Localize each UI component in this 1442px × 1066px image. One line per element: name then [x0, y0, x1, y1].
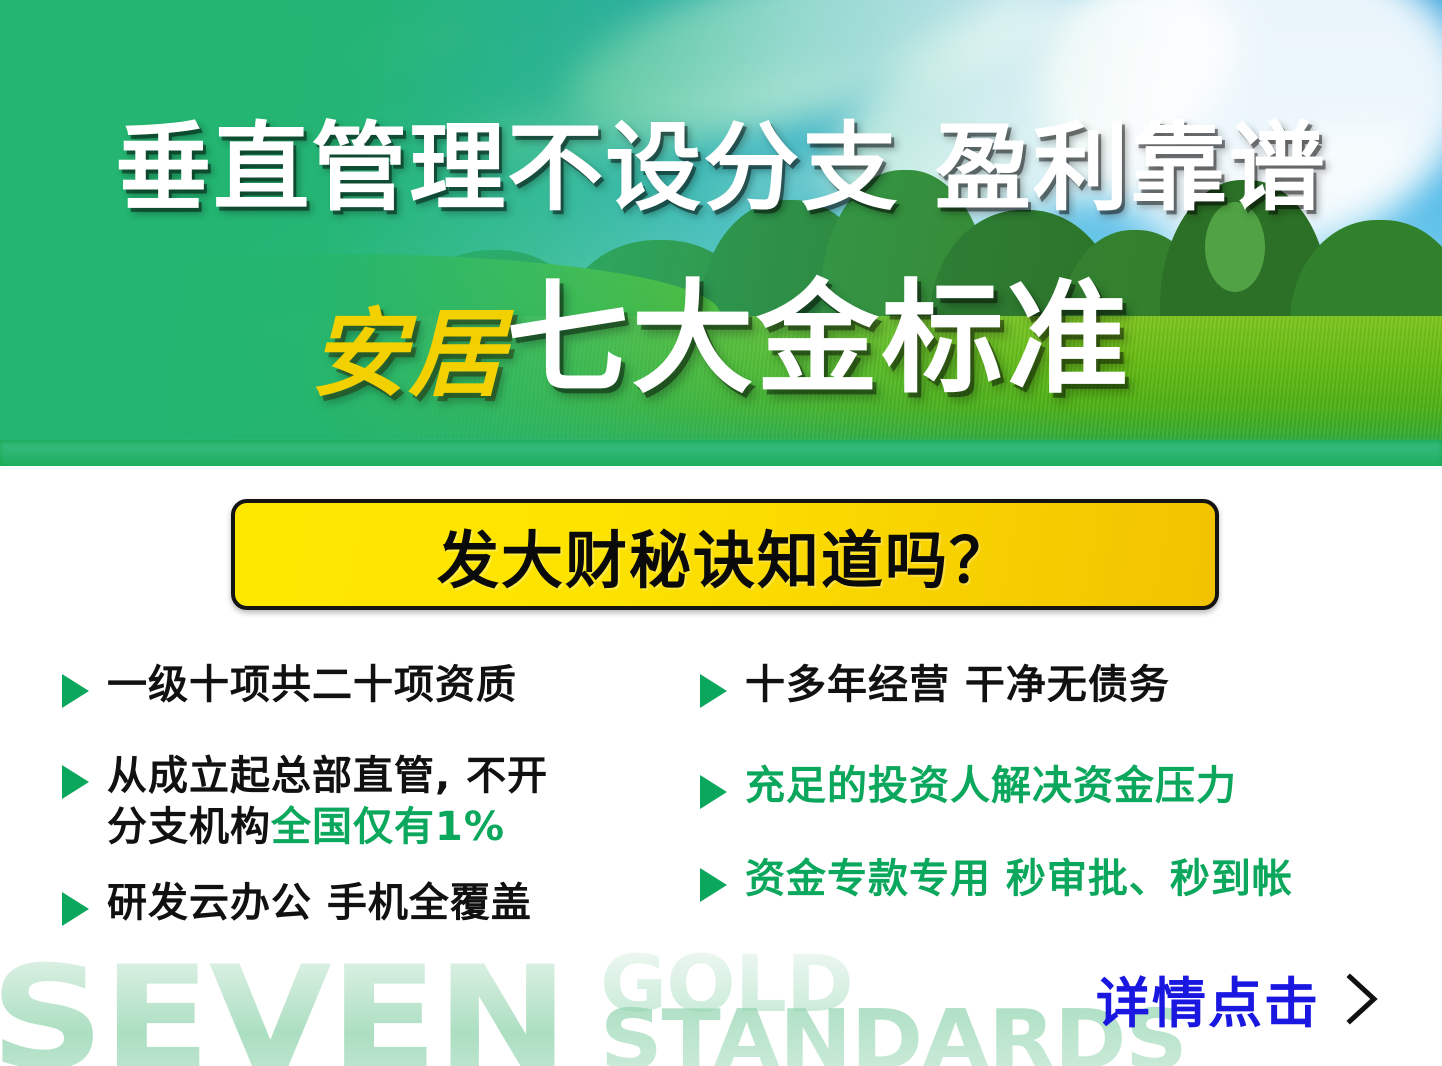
list-item: 研发云办公 手机全覆盖 [62, 878, 702, 929]
hero-bottom-glow [0, 442, 1442, 466]
feature-column-left: 一级十项共二十项资质 从成立起总部直管, 不开分支机构全国仅有1% 研发云办公 … [62, 660, 702, 955]
hero-subline-title: 七大金标准 [507, 278, 1132, 400]
hero-subline: 安居七大金标准 [0, 278, 1442, 402]
list-item: 一级十项共二十项资质 [62, 660, 702, 711]
triangle-bullet-icon [700, 868, 727, 902]
list-item: 从成立起总部直管, 不开分支机构全国仅有1% [62, 751, 702, 853]
feature-text: 一级十项共二十项资质 [107, 660, 517, 711]
list-item: 充足的投资人解决资金压力 [700, 761, 1420, 812]
details-cta-button[interactable]: 详情点击 [1096, 959, 1384, 1038]
feature-text-line2: 分支机构 [107, 804, 271, 850]
feature-text: 研发云办公 手机全覆盖 [107, 878, 532, 929]
triangle-bullet-icon [700, 775, 727, 809]
promo-banner: 垂直管理不设分支 盈利靠谱 安居七大金标准 发大财秘诀知道吗？ 一级十项共二十项… [0, 0, 1442, 1066]
feature-text: 从成立起总部直管, 不开分支机构全国仅有1% [107, 751, 548, 853]
headline-callout-text: 发大财秘诀知道吗？ [437, 510, 1013, 600]
feature-text-highlight: 全国仅有1% [271, 804, 505, 850]
feature-text-line1: 从成立起总部直管, 不开 [107, 753, 548, 799]
hero-headline: 垂直管理不设分支 盈利靠谱 [0, 120, 1442, 216]
triangle-bullet-icon [62, 892, 89, 926]
feature-text: 充足的投资人解决资金压力 [745, 761, 1237, 812]
feature-list: 一级十项共二十项资质 从成立起总部直管, 不开分支机构全国仅有1% 研发云办公 … [0, 660, 1442, 960]
watermark-seven: SEVEN [0, 948, 567, 1066]
hero-subline-brand: 安居 [311, 306, 507, 402]
feature-text: 十多年经营 干净无债务 [745, 660, 1170, 711]
details-cta-label: 详情点击 [1096, 959, 1320, 1038]
triangle-bullet-icon [700, 674, 727, 708]
triangle-bullet-icon [62, 765, 89, 799]
list-item: 资金专款专用 秒审批、秒到帐 [700, 854, 1420, 905]
list-item: 十多年经营 干净无债务 [700, 660, 1420, 711]
hero-image: 垂直管理不设分支 盈利靠谱 安居七大金标准 [0, 0, 1442, 466]
feature-column-right: 十多年经营 干净无债务 充足的投资人解决资金压力 资金专款专用 秒审批、秒到帐 [700, 660, 1420, 932]
watermark: SEVEN GOLD STANDARDS [0, 946, 1060, 1066]
headline-callout-banner[interactable]: 发大财秘诀知道吗？ [231, 499, 1219, 610]
chevron-right-icon [1340, 969, 1384, 1029]
triangle-bullet-icon [62, 674, 89, 708]
feature-text: 资金专款专用 秒审批、秒到帐 [745, 854, 1293, 905]
